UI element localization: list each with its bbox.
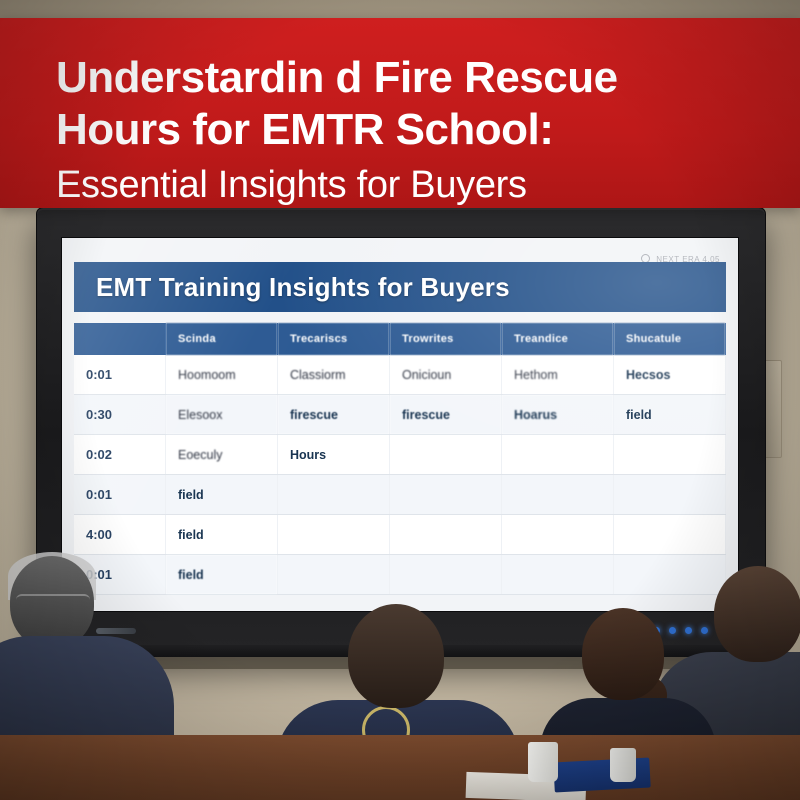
row-cell [614, 475, 726, 515]
row-cell: field [614, 395, 726, 435]
row-cell: Elesoox [166, 395, 278, 435]
table-header-cell-1: Scinda [166, 323, 278, 355]
table-header-cell-0 [74, 323, 166, 355]
row-time: 0:02 [74, 435, 166, 475]
row-cell [390, 555, 502, 595]
row-cell: firescue [390, 395, 502, 435]
table-header-cell-3: Trowrites [390, 323, 502, 355]
row-cell [502, 475, 614, 515]
row-cell: Hoarus [502, 395, 614, 435]
row-cell: field [166, 555, 278, 595]
title-banner-text: Understardin d Fire Rescue Hours for EMT… [56, 52, 756, 210]
row-time: 0:01 [74, 355, 166, 395]
desk-book [553, 758, 650, 793]
row-cell: field [166, 515, 278, 555]
person-head [582, 608, 664, 700]
table-header-cell-5: Shucatule [614, 323, 726, 355]
desk-cup [610, 748, 636, 782]
display-screen[interactable]: NEXT ERA 4.05 EMT Training Insights for … [62, 238, 738, 611]
row-cell [502, 515, 614, 555]
row-cell: Hethom [502, 355, 614, 395]
banner-line-1: Understardin d Fire Rescue [56, 52, 756, 104]
slide-title-bar: EMT Training Insights for Buyers [74, 262, 726, 312]
title-banner: Understardin d Fire Rescue Hours for EMT… [0, 18, 800, 208]
row-cell [278, 475, 390, 515]
row-cell: Hoomoom [166, 355, 278, 395]
person-head [714, 566, 800, 662]
row-cell [614, 555, 726, 595]
presentation-slide: NEXT ERA 4.05 EMT Training Insights for … [62, 238, 738, 611]
slide-table: Scinda Trecariscs Trowrites Treandice Sh… [74, 323, 726, 595]
row-time: 0:30 [74, 395, 166, 435]
table-row: 4:00 field [74, 515, 726, 555]
row-time: 0:01 [74, 475, 166, 515]
table-header-cell-4: Treandice [502, 323, 614, 355]
table-row: 0:01 field [74, 475, 726, 515]
slide-title: EMT Training Insights for Buyers [96, 272, 510, 303]
row-cell: Classiorm [278, 355, 390, 395]
display-ir-strip [96, 628, 136, 634]
row-cell [278, 515, 390, 555]
row-cell: firescue [278, 395, 390, 435]
table-row: 0:01 field [74, 555, 726, 595]
glasses-icon [16, 594, 90, 610]
display-status-leds [653, 627, 708, 634]
desk-surface [0, 735, 800, 800]
row-cell [502, 555, 614, 595]
row-cell: Eoeculy [166, 435, 278, 475]
row-cell [278, 555, 390, 595]
row-cell [390, 515, 502, 555]
table-row: 0:01 Hoomoom Classiorm Onicioun Hethom H… [74, 355, 726, 395]
row-cell [390, 435, 502, 475]
banner-line-3: Essential Insights for Buyers [56, 160, 756, 210]
row-cell [390, 475, 502, 515]
table-row: 0:30 Elesoox firescue firescue Hoarus fi… [74, 395, 726, 435]
row-cell: Hecsos [614, 355, 726, 395]
desk-cup [528, 742, 558, 782]
row-cell [614, 435, 726, 475]
person-head [348, 604, 444, 708]
row-cell: Hours [278, 435, 390, 475]
row-cell: Onicioun [390, 355, 502, 395]
table-header-cell-2: Trecariscs [278, 323, 390, 355]
table-row: 0:02 Eoeculy Hours [74, 435, 726, 475]
row-cell [502, 435, 614, 475]
status-led-icon [669, 627, 676, 634]
screenshot-root: NEXT ERA 4.05 EMT Training Insights for … [0, 0, 800, 800]
status-led-icon [685, 627, 692, 634]
row-time: 4:00 [74, 515, 166, 555]
banner-line-2: Hours for EMTR School: [56, 104, 756, 156]
status-led-icon [701, 627, 708, 634]
row-cell [614, 515, 726, 555]
table-header-row: Scinda Trecariscs Trowrites Treandice Sh… [74, 323, 726, 355]
row-cell: field [166, 475, 278, 515]
